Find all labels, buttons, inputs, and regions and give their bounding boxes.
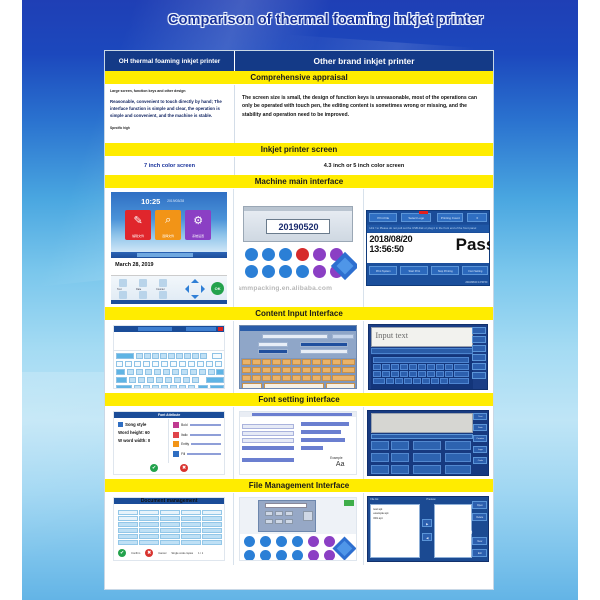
key-b-24[interactable]	[252, 375, 261, 381]
table-row[interactable]	[118, 528, 222, 533]
file-b-key-5[interactable]	[275, 519, 283, 524]
table-row[interactable]	[118, 534, 222, 539]
key-b-14[interactable]	[262, 367, 271, 373]
font-b-bar-3[interactable]	[301, 422, 349, 426]
file-b-ok-indicator[interactable]	[344, 500, 354, 506]
arrow-up-icon[interactable]	[191, 279, 199, 283]
fb-key-5[interactable]	[308, 536, 319, 547]
table-cell	[118, 528, 138, 533]
key-b-21[interactable]	[332, 367, 341, 373]
font-option-fill-slider[interactable]	[187, 453, 221, 455]
key-u[interactable]	[181, 369, 188, 375]
font-b-col-left	[242, 420, 297, 468]
key-r2-5[interactable]	[152, 361, 159, 367]
list-item[interactable]: 001.spt	[373, 516, 417, 520]
key-q[interactable]	[127, 369, 134, 375]
font-c-cell-10[interactable]	[391, 465, 409, 474]
appraisal-row: Large screen, function keys and other de…	[105, 85, 493, 143]
font-option-entity-slider[interactable]	[191, 443, 221, 445]
font-c-cell-12[interactable]	[445, 465, 471, 474]
key-b-19[interactable]	[312, 367, 321, 373]
italic-icon	[173, 432, 179, 438]
screen-size-row: 7 inch color screen 4.3 inch or 5 inch c…	[105, 157, 493, 175]
key-z[interactable]	[134, 385, 141, 389]
key-r2-4[interactable]	[143, 361, 150, 367]
key-r1-7[interactable]	[184, 353, 191, 359]
font-c-cell-8[interactable]	[445, 453, 471, 462]
appraisal-left-tiny: Large screen, function keys and other de…	[110, 89, 229, 94]
home-tile-edit[interactable]: ✎ 编辑文件	[125, 210, 151, 240]
fb-key-9[interactable]	[276, 550, 287, 561]
key-r2-9[interactable]	[188, 361, 195, 367]
key-r1-6[interactable]	[176, 353, 183, 359]
table-row[interactable]	[118, 540, 222, 545]
key-t[interactable]	[163, 369, 170, 375]
font-b-bar-1[interactable]	[242, 446, 294, 450]
key-g[interactable]	[165, 377, 172, 383]
input-screen-dark: Input text	[368, 324, 488, 390]
file-b-key-enter[interactable]	[303, 511, 313, 521]
key-shift-left[interactable]	[116, 385, 132, 389]
key-c-14[interactable]	[400, 371, 408, 377]
key-c-8[interactable]	[436, 364, 444, 370]
table-cell	[202, 522, 222, 527]
font-b-columns: Example Aa	[242, 420, 356, 468]
key-arrow[interactable]	[212, 353, 222, 359]
key-k[interactable]	[192, 377, 199, 383]
key-r2-3[interactable]	[134, 361, 141, 367]
key-b-22[interactable]	[342, 367, 355, 373]
table-cell	[181, 534, 201, 539]
toolbar-print-count[interactable]: Printing Count	[437, 213, 463, 222]
input-screen-blue	[239, 325, 357, 389]
file-b-key-2[interactable]	[275, 511, 283, 516]
key-shift[interactable]	[116, 353, 134, 359]
appraisal-left-cell: Large screen, function keys and other de…	[105, 85, 235, 143]
keypad-key-9[interactable]	[279, 265, 292, 278]
table-header-row: OH thermal foaming inkjet printer Other …	[105, 51, 493, 71]
key-e[interactable]	[145, 369, 152, 375]
alert-marker-icon	[419, 211, 428, 214]
font-c-cell-1[interactable]	[371, 441, 389, 450]
arrow-left-icon[interactable]	[185, 285, 189, 293]
font-b-box-3[interactable]	[242, 438, 294, 443]
btn-font-setting[interactable]: Font Setting	[462, 266, 488, 275]
input-c-keyboard[interactable]	[371, 355, 473, 389]
key-c-27[interactable]	[431, 378, 439, 384]
keypad-key-4[interactable]	[296, 248, 309, 261]
file-c-header: File list Preview	[368, 497, 488, 503]
move-left-button[interactable]: ◀	[422, 533, 432, 541]
key-b-32[interactable]	[332, 375, 355, 381]
font-dialog-buttons: ✔ ✖	[114, 462, 224, 473]
direction-pad[interactable]	[185, 279, 205, 299]
key-tab[interactable]	[116, 369, 125, 375]
table-header-col2: Other brand inkjet printer	[235, 51, 493, 71]
file-b-key-6[interactable]	[285, 519, 293, 524]
key-b-10[interactable]	[332, 359, 341, 365]
input-a-tab-2[interactable]	[186, 327, 216, 331]
file-b-input[interactable]	[265, 503, 307, 508]
file-a-footer: ✔ Confirm ✖ Cancel Single code copies 1 …	[118, 548, 222, 558]
input-b-field-4[interactable]	[258, 349, 288, 354]
keypad-key-11[interactable]	[313, 265, 326, 278]
keypad-key-5[interactable]	[313, 248, 326, 261]
font-b-bar-6[interactable]	[301, 446, 323, 450]
font-c-preview	[371, 413, 473, 433]
key-c-9[interactable]	[445, 364, 453, 370]
key-b-29[interactable]	[302, 375, 311, 381]
tray-icon-barcode[interactable]	[139, 291, 147, 299]
table-row[interactable]	[118, 522, 222, 527]
home-tile-select[interactable]: ⌕ 选择文件	[155, 210, 181, 240]
fb-key-3[interactable]	[276, 536, 287, 547]
key-c-20[interactable]	[454, 371, 469, 377]
key-b[interactable]	[170, 385, 177, 389]
btn-stop-printing[interactable]: Stop Printing	[431, 266, 459, 275]
file-c-save-label: Save	[458, 530, 472, 536]
key-c-17[interactable]	[427, 371, 435, 377]
key-r1-8[interactable]	[192, 353, 199, 359]
key-c-12[interactable]	[382, 371, 390, 377]
key-r1-1[interactable]	[136, 353, 143, 359]
key-r1-2[interactable]	[144, 353, 151, 359]
key-b-23[interactable]	[242, 375, 251, 381]
table-cell	[181, 522, 201, 527]
font-b-aa-sample: Aa	[336, 461, 345, 468]
key-b-1[interactable]	[242, 359, 251, 365]
home-clock-date: 2019/03/28	[167, 199, 184, 203]
tray-icon-logo[interactable]	[119, 291, 127, 299]
font-c-sidebar: Text Date Counter Logo Code	[473, 413, 487, 475]
input-b-field-1[interactable]	[262, 334, 328, 339]
input-b-keyboard[interactable]	[241, 358, 357, 389]
confirm-icon[interactable]: ✔	[118, 549, 126, 557]
font-c-side-code[interactable]: Code	[473, 457, 487, 464]
key-b-28[interactable]	[292, 375, 301, 381]
key-b-20[interactable]	[322, 367, 331, 373]
key-r2-11[interactable]	[206, 361, 213, 367]
panel-ruler	[244, 207, 352, 211]
screenshot-cell-file-c: File list Preview test.spt example.spt 0…	[364, 493, 493, 565]
table-cell	[139, 540, 159, 545]
file-management-interface-row: Document management	[105, 493, 493, 565]
key-b-30[interactable]	[312, 375, 321, 381]
fb-key-4[interactable]	[292, 536, 303, 547]
input-c-side-2[interactable]	[472, 336, 486, 343]
input-c-side-5[interactable]	[472, 363, 486, 370]
font-dialog-right: Bold Italic Entity	[169, 419, 224, 463]
home-tile-settings[interactable]: ⚙ 系统设置	[185, 210, 211, 240]
font-b-box-1[interactable]	[242, 424, 294, 429]
key-r[interactable]	[154, 369, 161, 375]
key-c-19[interactable]	[445, 371, 453, 377]
table-cell	[118, 540, 138, 545]
key-b-2[interactable]	[252, 359, 261, 365]
key-b-18[interactable]	[302, 367, 311, 373]
key-backspace[interactable]	[216, 369, 224, 375]
key-b-15[interactable]	[272, 367, 281, 373]
section-band-comprehensive-appraisal: Comprehensive appraisal	[105, 71, 493, 85]
key-b-8[interactable]	[312, 359, 321, 365]
key-j[interactable]	[183, 377, 190, 383]
key-r2-12[interactable]	[215, 361, 222, 367]
font-setting-interface-row: Font Attribute Song style Word height: 6…	[105, 407, 493, 479]
key-r2-8[interactable]	[179, 361, 186, 367]
key-b-3[interactable]	[262, 359, 271, 365]
key-b-33[interactable]	[242, 383, 262, 389]
font-c-toolbar[interactable]	[371, 434, 473, 439]
table-header-col1: OH thermal foaming inkjet printer	[105, 51, 235, 71]
key-m[interactable]	[188, 385, 195, 389]
font-option-bold-slider[interactable]	[190, 424, 222, 426]
font-c-cell-11[interactable]	[413, 465, 441, 474]
input-a-keyboard[interactable]	[116, 353, 224, 388]
btn-start-print[interactable]: Start Print	[400, 266, 428, 275]
file-b-key-3[interactable]	[285, 511, 293, 516]
key-y[interactable]	[172, 369, 179, 375]
key-c-16[interactable]	[418, 371, 426, 377]
font-c-cell-4[interactable]	[445, 441, 471, 450]
cancel-icon[interactable]: ✖	[145, 549, 153, 557]
screenshot-cell-font-a: Font Attribute Song style Word height: 6…	[105, 407, 234, 479]
input-c-subbar	[371, 348, 473, 354]
keypad-key-8[interactable]	[262, 265, 275, 278]
file-c-side-exit[interactable]: Exit	[472, 549, 487, 557]
input-b-field-2[interactable]	[258, 342, 288, 347]
font-c-cell-2[interactable]	[391, 441, 409, 450]
key-d[interactable]	[147, 377, 154, 383]
input-c-side-3[interactable]	[472, 345, 486, 352]
font-dialog-title: Font Attribute	[114, 412, 224, 418]
key-b-5[interactable]	[282, 359, 291, 365]
comparison-table: OH thermal foaming inkjet printer Other …	[104, 50, 494, 590]
key-c-suggest[interactable]	[373, 357, 469, 363]
font-style-row[interactable]: Song style	[118, 422, 165, 428]
key-b-9[interactable]	[322, 359, 331, 365]
key-c-11[interactable]	[373, 371, 381, 377]
font-c-side-counter[interactable]: Counter	[473, 435, 487, 442]
font-option-italic[interactable]: Italic	[173, 432, 221, 438]
device-home-screen: 10:25 2019/03/28 ✎ 编辑文件 ⌕ 选择文件 ⚙ 系统设置 Ma…	[111, 192, 227, 304]
section-band-file-management-interface: File Management Interface	[105, 479, 493, 493]
fb-key-12[interactable]	[324, 550, 335, 561]
key-w[interactable]	[136, 369, 143, 375]
key-r1-5[interactable]	[168, 353, 175, 359]
font-option-entity[interactable]: Entity	[173, 441, 221, 447]
key-c-26[interactable]	[422, 378, 430, 384]
font-b-box-2[interactable]	[242, 431, 294, 436]
font-c-side-date[interactable]: Date	[473, 424, 487, 431]
file-c-side-delete[interactable]: Delete	[472, 513, 487, 521]
file-c-side-open[interactable]: Open	[472, 501, 487, 509]
key-r2-1[interactable]	[116, 361, 123, 367]
fb-key-8[interactable]	[260, 550, 271, 561]
keypad-key-2[interactable]	[262, 248, 275, 261]
close-icon[interactable]	[218, 327, 223, 331]
font-c-side-logo[interactable]: Logo	[473, 446, 487, 453]
key-b-16[interactable]	[282, 367, 291, 373]
file-a-table	[118, 510, 222, 548]
key-b-25[interactable]	[262, 375, 271, 381]
input-a-textfield[interactable]	[114, 333, 224, 351]
font-option-bold[interactable]: Bold	[173, 422, 221, 428]
key-b-12[interactable]	[242, 367, 251, 373]
key-b-space[interactable]	[264, 383, 324, 389]
font-b-bar-5[interactable]	[301, 438, 345, 442]
key-r2-6[interactable]	[161, 361, 168, 367]
key-a[interactable]	[129, 377, 136, 383]
input-b-field-5[interactable]	[300, 349, 348, 354]
fb-key-7[interactable]	[244, 550, 255, 561]
input-c-side-1[interactable]	[472, 327, 486, 334]
file-b-key-4[interactable]	[265, 519, 273, 524]
tray-icon-date[interactable]	[139, 279, 147, 287]
input-a-tab-1[interactable]	[138, 327, 172, 331]
font-b-bar-2[interactable]	[242, 458, 294, 462]
font-width-row[interactable]: W word width: 0	[118, 438, 165, 444]
font-b-bar-4[interactable]	[301, 430, 341, 434]
key-done[interactable]	[210, 385, 224, 389]
input-b-btn-1[interactable]	[332, 334, 354, 339]
key-caps[interactable]	[116, 377, 127, 383]
key-c-21[interactable]	[373, 378, 385, 384]
key-r2-7[interactable]	[170, 361, 177, 367]
fb-key-10[interactable]	[292, 550, 303, 561]
key-h[interactable]	[174, 377, 181, 383]
key-b-13[interactable]	[252, 367, 261, 373]
tray-label-date: Date	[136, 288, 141, 291]
font-c-cell-9[interactable]	[371, 465, 389, 474]
input-b-field-3[interactable]	[300, 342, 348, 347]
input-c-textbox[interactable]: Input text	[371, 327, 473, 347]
font-c-side-text[interactable]: Text	[473, 413, 487, 420]
input-a-titlebar	[114, 326, 224, 332]
file-c-side-new[interactable]: New	[472, 537, 487, 545]
arrow-down-icon[interactable]	[191, 295, 199, 299]
tray-icon-counter[interactable]	[159, 279, 167, 287]
cancel-button[interactable]: ✖	[180, 464, 188, 472]
toolbar-print-file[interactable]: Print File	[369, 213, 397, 222]
key-c-25[interactable]	[413, 378, 421, 384]
key-space[interactable]	[198, 385, 208, 389]
btn-print-system[interactable]: Print System	[369, 266, 397, 275]
key-v[interactable]	[161, 385, 168, 389]
font-editor-dark: Text Date Counter Logo Code	[367, 410, 489, 476]
key-c-13[interactable]	[391, 371, 399, 377]
font-option-italic-slider[interactable]	[190, 434, 221, 436]
font-dialog-left: Song style Word height: 60 W word width:…	[114, 419, 169, 463]
key-c-29[interactable]	[449, 378, 469, 384]
key-enter[interactable]	[206, 377, 224, 383]
key-c-10[interactable]	[454, 364, 469, 370]
key-c-6[interactable]	[418, 364, 426, 370]
key-c-24[interactable]	[404, 378, 412, 384]
key-r2-10[interactable]	[197, 361, 204, 367]
key-p[interactable]	[208, 369, 215, 375]
font-c-cell-3[interactable]	[413, 441, 441, 450]
confirm-button[interactable]: ✔	[150, 464, 158, 472]
key-f[interactable]	[156, 377, 163, 383]
font-b-col-right: Example Aa	[301, 420, 356, 468]
key-o[interactable]	[199, 369, 206, 375]
tray-icon-qr[interactable]	[159, 291, 167, 299]
key-b-11[interactable]	[342, 359, 355, 365]
key-c-4[interactable]	[400, 364, 408, 370]
table-cell	[202, 516, 222, 521]
key-r1-3[interactable]	[152, 353, 159, 359]
fb-key-11[interactable]	[308, 550, 319, 561]
key-c-23[interactable]	[395, 378, 403, 384]
key-b-6[interactable]	[292, 359, 301, 365]
keypad-key-7[interactable]	[245, 265, 258, 278]
input-c-side-4[interactable]	[472, 354, 486, 361]
home-tile-edit-label: 编辑文件	[125, 234, 151, 238]
font-option-fill-label: Fill	[181, 452, 185, 456]
key-c-2[interactable]	[382, 364, 390, 370]
key-c-3[interactable]	[391, 364, 399, 370]
key-s[interactable]	[138, 377, 145, 383]
key-b-4[interactable]	[272, 359, 281, 365]
font-c-cell-7[interactable]	[413, 453, 441, 462]
key-c-5[interactable]	[409, 364, 417, 370]
key-r1-9[interactable]	[200, 353, 207, 359]
key-b-17[interactable]	[292, 367, 301, 373]
print-date: 2018/08/20	[369, 234, 412, 244]
key-c[interactable]	[152, 385, 159, 389]
font-c-cell-6[interactable]	[391, 453, 409, 462]
printer-keypad-photo: 20190520 sammpacking.en.	[239, 202, 357, 294]
key-x[interactable]	[143, 385, 150, 389]
key-b-34[interactable]	[326, 383, 355, 389]
font-height-row[interactable]: Word height: 60	[118, 430, 165, 436]
key-c-28[interactable]	[440, 378, 448, 384]
key-c-15[interactable]	[409, 371, 417, 377]
key-c-7[interactable]	[427, 364, 435, 370]
key-b-26[interactable]	[272, 375, 281, 381]
move-right-button[interactable]: ▶	[422, 519, 432, 527]
table-cell	[160, 534, 180, 539]
key-c-1[interactable]	[373, 364, 381, 370]
file-c-list-panel[interactable]: test.spt example.spt 001.spt	[370, 504, 420, 558]
key-c-18[interactable]	[436, 371, 444, 377]
watermark: sammpacking.en.alibaba.com	[239, 285, 357, 292]
key-r1-4[interactable]	[160, 353, 167, 359]
key-b-31[interactable]	[322, 375, 331, 381]
key-c-22[interactable]	[386, 378, 394, 384]
key-b-27[interactable]	[282, 375, 291, 381]
key-r2-2[interactable]	[125, 361, 132, 367]
key-n[interactable]	[179, 385, 186, 389]
fb-key-1[interactable]	[244, 536, 255, 547]
appraisal-left-foot: Specific high	[110, 126, 229, 130]
tray-icon-text[interactable]	[119, 279, 127, 287]
toolbar-select-logo[interactable]: Select Logo	[401, 213, 431, 222]
file-b-key-1[interactable]	[265, 511, 273, 516]
keypad-key-1[interactable]	[245, 248, 258, 261]
fb-key-2[interactable]	[260, 536, 271, 547]
font-c-cell-5[interactable]	[371, 453, 389, 462]
key-b-7[interactable]	[302, 359, 311, 365]
font-option-fill[interactable]: Fill	[173, 451, 221, 457]
key-i[interactable]	[190, 369, 197, 375]
keypad-key-3[interactable]	[279, 248, 292, 261]
input-b-titlebar	[240, 326, 356, 331]
arrow-right-icon[interactable]	[201, 285, 205, 293]
keypad-key-10[interactable]	[296, 265, 309, 278]
table-row[interactable]	[118, 516, 222, 521]
input-c-side-6[interactable]	[472, 372, 486, 379]
